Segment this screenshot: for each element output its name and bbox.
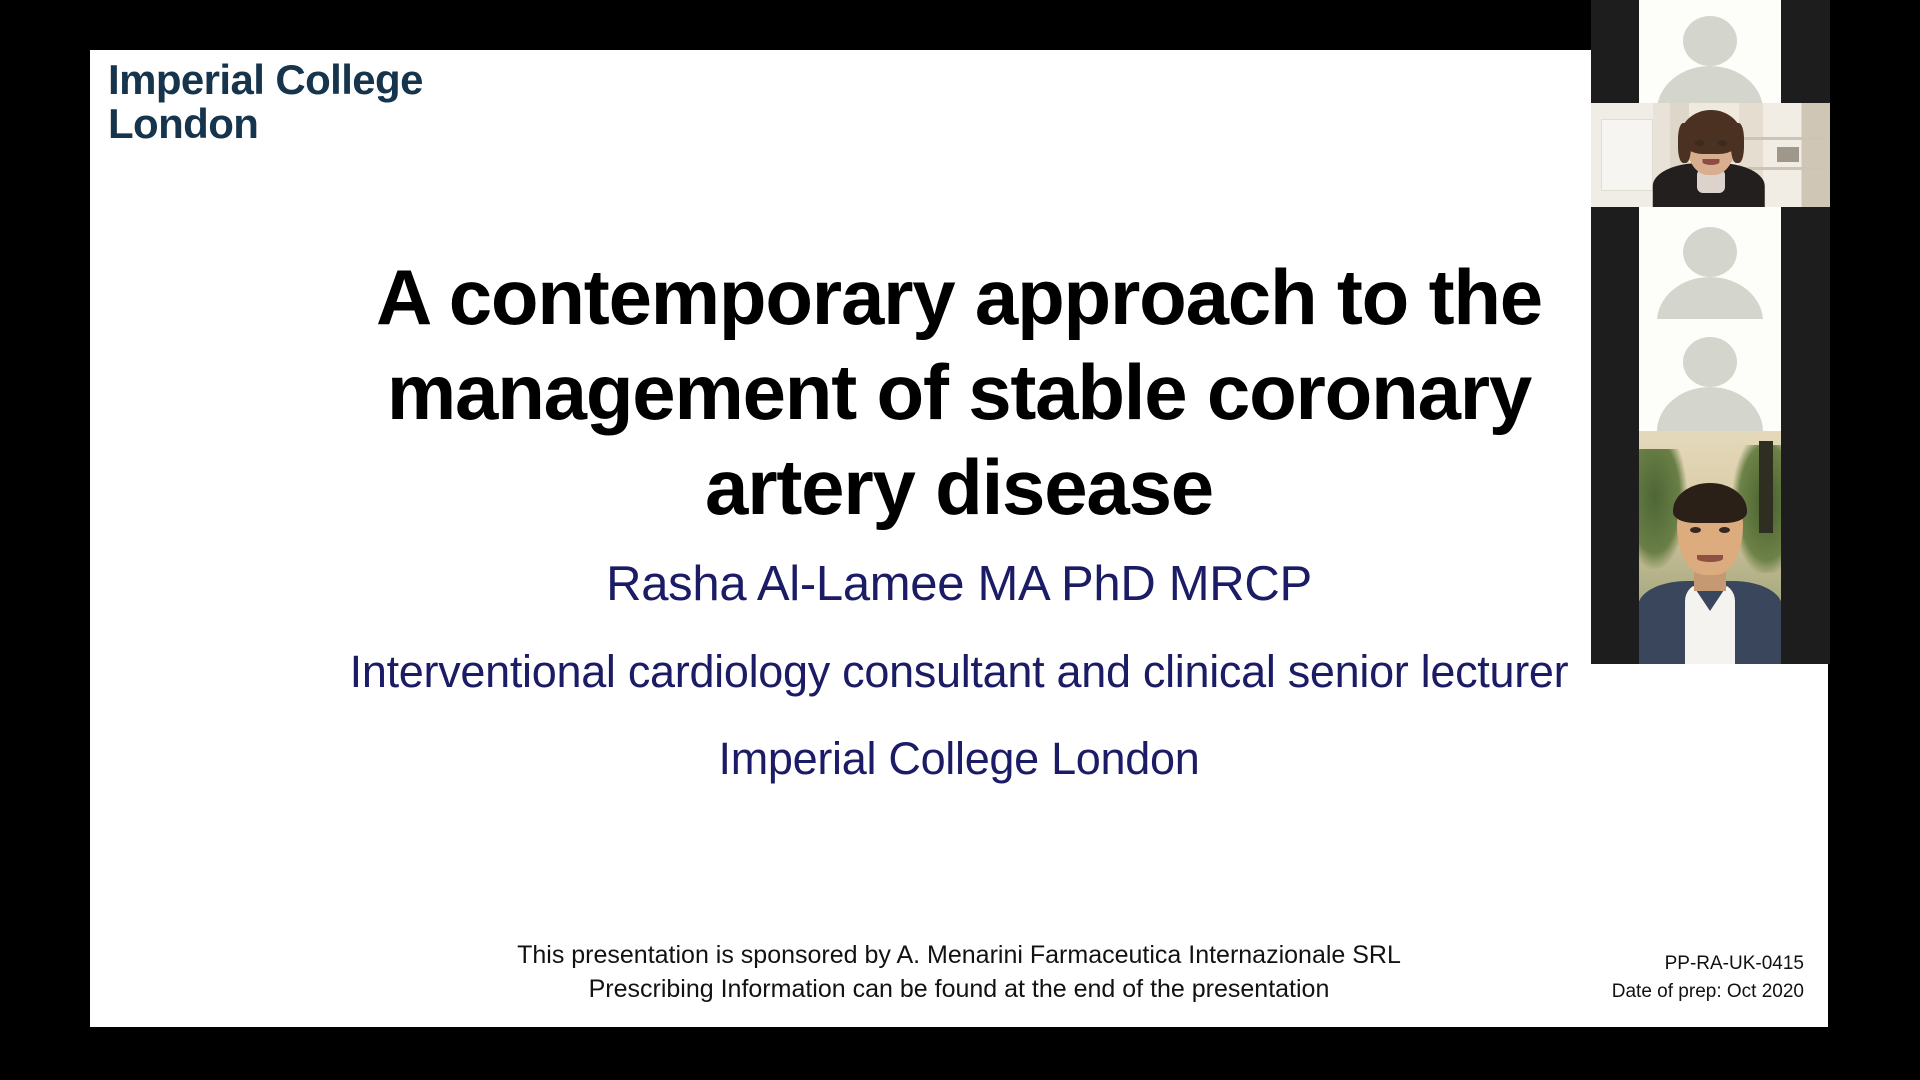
participant-tile-video-woman[interactable] bbox=[1591, 103, 1830, 207]
title-line-1: A contemporary approach to the bbox=[90, 250, 1828, 345]
sponsor-line-2: Prescribing Information can be found at … bbox=[90, 972, 1828, 1006]
participant-video-strip[interactable] bbox=[1591, 0, 1830, 664]
avatar-body-icon bbox=[1657, 277, 1763, 319]
presenter-details: Rasha Al-Lamee MA PhD MRCP Interventiona… bbox=[90, 560, 1828, 781]
background-post bbox=[1759, 441, 1773, 533]
participant-tile-placeholder-2[interactable] bbox=[1639, 207, 1781, 319]
avatar-head-icon bbox=[1683, 227, 1737, 277]
logo-line-2: London bbox=[108, 102, 423, 146]
avatar-body-icon bbox=[1657, 387, 1763, 431]
slide-title: A contemporary approach to the managemen… bbox=[90, 250, 1828, 535]
background-shelf-object-2 bbox=[1777, 147, 1799, 162]
participant-tile-placeholder-1[interactable] bbox=[1639, 0, 1781, 103]
participant-tile-video-man[interactable] bbox=[1639, 431, 1781, 664]
code-reference: PP-RA-UK-0415 bbox=[1612, 950, 1804, 978]
code-date-of-prep: Date of prep: Oct 2020 bbox=[1612, 978, 1804, 1006]
avatar-head-icon bbox=[1683, 16, 1737, 66]
person-hair-right bbox=[1731, 123, 1744, 163]
person-eye-left bbox=[1695, 140, 1704, 146]
screen-stage: Imperial College London A contemporary a… bbox=[0, 0, 1920, 1080]
person-eye-right bbox=[1719, 527, 1730, 533]
avatar-body-icon bbox=[1657, 66, 1763, 103]
presenter-name: Rasha Al-Lamee MA PhD MRCP bbox=[90, 560, 1828, 609]
background-door bbox=[1601, 119, 1654, 191]
imperial-college-london-logo: Imperial College London bbox=[108, 58, 423, 145]
person-hair-left bbox=[1678, 123, 1691, 163]
title-line-3: artery disease bbox=[90, 440, 1828, 535]
title-line-2: management of stable coronary bbox=[90, 345, 1828, 440]
participant-tile-placeholder-3[interactable] bbox=[1639, 319, 1781, 431]
sponsor-disclaimer: This presentation is sponsored by A. Men… bbox=[90, 938, 1828, 1006]
logo-line-1: Imperial College bbox=[108, 58, 423, 102]
presenter-role: Interventional cardiology consultant and… bbox=[90, 649, 1828, 694]
person-mouth bbox=[1702, 159, 1719, 165]
presentation-slide: Imperial College London A contemporary a… bbox=[90, 50, 1828, 1027]
person-mouth bbox=[1697, 555, 1723, 562]
person-eye-right bbox=[1718, 140, 1727, 146]
regulatory-code: PP-RA-UK-0415 Date of prep: Oct 2020 bbox=[1612, 950, 1804, 1005]
avatar-head-icon bbox=[1683, 337, 1737, 387]
sponsor-line-1: This presentation is sponsored by A. Men… bbox=[90, 938, 1828, 972]
person-eye-left bbox=[1690, 527, 1701, 533]
presenter-institution: Imperial College London bbox=[90, 736, 1828, 781]
